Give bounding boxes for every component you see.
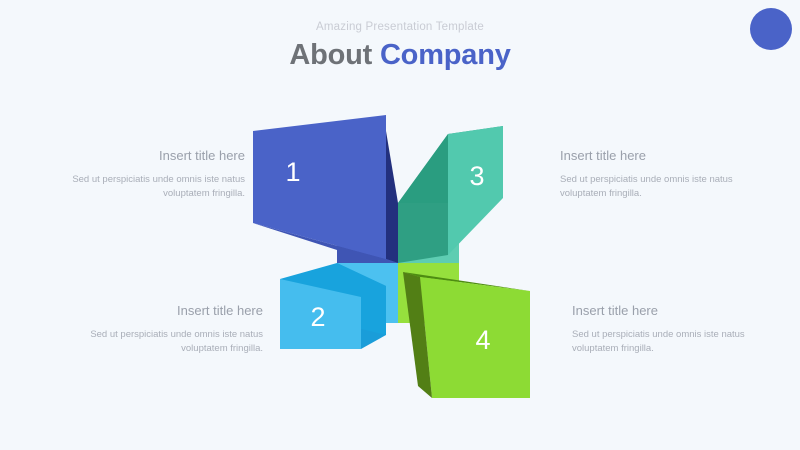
block-4-number: 4 xyxy=(475,325,490,355)
block-2-title: Insert title here xyxy=(48,303,263,319)
block-3-shape[interactable]: 3 xyxy=(398,126,503,263)
block-2-number: 2 xyxy=(310,302,325,332)
slide-header: Amazing Presentation Template About Comp… xyxy=(0,22,800,71)
block-text-4: Insert title here Sed ut perspiciatis un… xyxy=(572,303,787,357)
block-1-title: Insert title here xyxy=(30,148,245,164)
block-1-number: 1 xyxy=(285,157,300,187)
slide-canvas: Amazing Presentation Template About Comp… xyxy=(0,0,800,450)
page-title-part-1: About xyxy=(289,39,372,71)
block-1-body: Sed ut perspiciatis unde omnis iste natu… xyxy=(30,173,245,202)
block-3-body: Sed ut perspiciatis unde omnis iste natu… xyxy=(560,173,775,202)
isometric-blocks-diagram: 1 3 2 xyxy=(240,110,570,410)
diagram-svg: 1 3 2 xyxy=(240,110,570,410)
block-4-title: Insert title here xyxy=(572,303,787,319)
block-4-shape[interactable]: 4 xyxy=(398,263,530,398)
page-title: About Company xyxy=(0,40,800,72)
block-text-3: Insert title here Sed ut perspiciatis un… xyxy=(560,148,775,202)
block-text-2: Insert title here Sed ut perspiciatis un… xyxy=(48,303,263,357)
block-1-shape[interactable]: 1 xyxy=(253,115,398,263)
page-title-space xyxy=(372,39,380,71)
block-1-front-face xyxy=(253,115,386,259)
block-1-side-face xyxy=(386,131,398,263)
block-4-body: Sed ut perspiciatis unde omnis iste natu… xyxy=(572,328,787,357)
block-text-1: Insert title here Sed ut perspiciatis un… xyxy=(30,148,245,202)
block-3-number: 3 xyxy=(469,161,484,191)
block-2-body: Sed ut perspiciatis unde omnis iste natu… xyxy=(48,328,263,357)
slide-subtitle: Amazing Presentation Template xyxy=(0,22,800,34)
page-title-part-2: Company xyxy=(380,39,511,71)
block-3-title: Insert title here xyxy=(560,148,775,164)
